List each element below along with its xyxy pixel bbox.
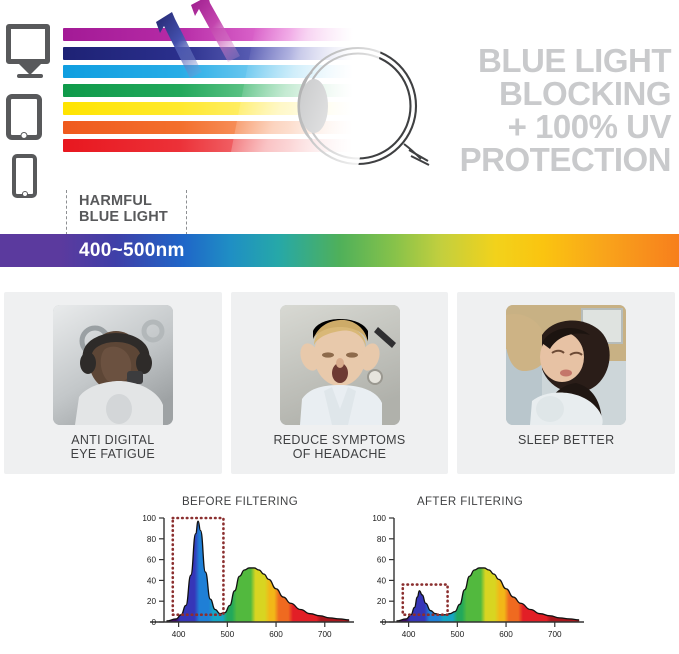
pupil-lens <box>300 79 328 133</box>
x-tick-label: 700 <box>318 630 332 639</box>
benefit-card-label: ANTI DIGITAL EYE FATIGUE <box>71 433 155 461</box>
benefit-card-sleep: SLEEP BETTER <box>457 292 675 474</box>
y-tick-label: 80 <box>147 535 157 544</box>
x-tick-label: 600 <box>269 630 283 639</box>
y-tick-label: 80 <box>377 535 387 544</box>
reflected-light-arrow-group <box>150 0 290 80</box>
chart-title: BEFORE FILTERING <box>120 496 360 508</box>
spectral-curve-fill <box>166 521 349 622</box>
y-tick-label: 0 <box>151 618 156 627</box>
y-tick-label: 40 <box>377 576 387 585</box>
y-tick-label: 60 <box>377 556 387 565</box>
benefit-label-line-2: OF HEADACHE <box>273 447 405 461</box>
y-tick-label: 100 <box>372 514 386 523</box>
benefit-card-eye-fatigue: ANTI DIGITAL EYE FATIGUE <box>4 292 222 474</box>
x-tick-label: 400 <box>172 630 186 639</box>
man-with-headache-photo <box>280 305 400 425</box>
y-tick-label: 20 <box>377 597 387 606</box>
x-tick-label: 500 <box>450 630 464 639</box>
harmful-label-line-1: HARMFUL <box>79 194 168 210</box>
page-title: BLUE LIGHT BLOCKING + 100% UV PROTECTION <box>341 44 671 176</box>
woman-sleeping-photo <box>506 305 626 425</box>
benefit-label-line-1: REDUCE SYMPTOMS <box>273 433 405 447</box>
reflected-violet-light-arrow <box>191 0 240 62</box>
benefit-card-group: ANTI DIGITAL EYE FATIGUE <box>0 292 679 474</box>
benefit-label-line-1: ANTI DIGITAL <box>71 433 155 447</box>
spectral-chart-group: BEFORE FILTERING 02040608010040050060070… <box>0 496 679 654</box>
harmful-label-line-2: BLUE LIGHT <box>79 210 168 226</box>
x-tick-label: 700 <box>548 630 562 639</box>
before-filtering-chart: BEFORE FILTERING 02040608010040050060070… <box>120 496 360 654</box>
y-tick-label: 100 <box>142 514 156 523</box>
tablet-icon <box>6 94 42 140</box>
benefit-label-line-1: SLEEP BETTER <box>518 433 614 447</box>
device-icon-group <box>6 24 54 198</box>
y-tick-label: 60 <box>147 556 157 565</box>
benefit-card-label: SLEEP BETTER <box>518 433 614 447</box>
blue-light-infographic: BLUE LIGHT BLOCKING + 100% UV PROTECTION… <box>0 0 679 654</box>
y-tick-label: 40 <box>147 576 157 585</box>
reflected-blue-light-arrow <box>156 12 202 78</box>
x-tick-label: 500 <box>220 630 234 639</box>
x-tick-label: 400 <box>402 630 416 639</box>
y-tick-label: 0 <box>381 618 386 627</box>
headline-line-4: PROTECTION <box>341 143 671 176</box>
y-tick-label: 20 <box>147 597 157 606</box>
headline-line-1: BLUE LIGHT <box>341 44 671 77</box>
headline-line-3: + 100% UV <box>341 110 671 143</box>
harmful-range-start-guide <box>66 190 67 235</box>
harmful-blue-light-label: HARMFUL BLUE LIGHT <box>79 194 168 225</box>
tired-man-with-headphones-photo <box>53 305 173 425</box>
chart-title: AFTER FILTERING <box>350 496 590 508</box>
benefit-card-headache: REDUCE SYMPTOMS OF HEADACHE <box>231 292 449 474</box>
after-filtering-chart: AFTER FILTERING 020406080100400500600700 <box>350 496 590 654</box>
wavelength-range-label: 400~500nm <box>79 240 185 262</box>
benefit-card-label: REDUCE SYMPTOMS OF HEADACHE <box>273 433 405 461</box>
monitor-icon <box>6 24 54 78</box>
benefit-label-line-2: EYE FATIGUE <box>71 447 155 461</box>
headline-line-2: BLOCKING <box>341 77 671 110</box>
smartphone-icon <box>12 154 37 198</box>
x-tick-label: 600 <box>499 630 513 639</box>
harmful-range-end-guide <box>186 190 187 235</box>
